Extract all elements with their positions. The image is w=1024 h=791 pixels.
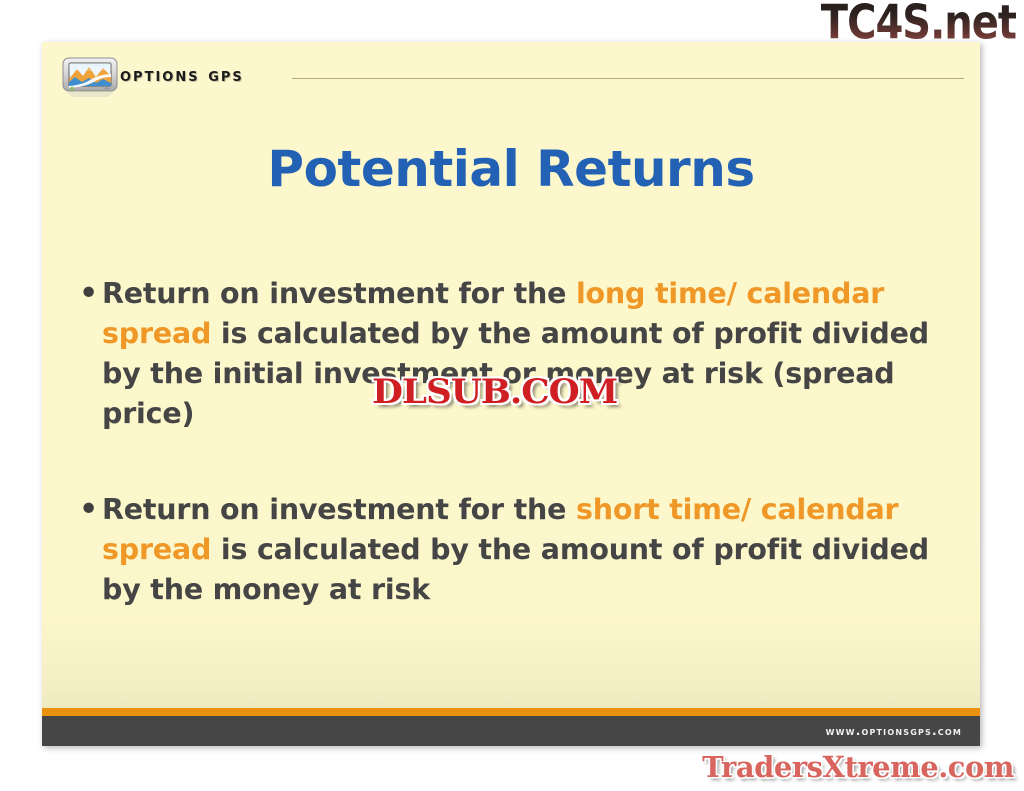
page-title: Potential Returns [42,140,980,198]
slide-footer: www.OptionsGPS.com [42,716,980,746]
footer-accent-stripe [42,708,980,716]
bullet-text: Return on investment for the short time/… [102,490,952,610]
watermark-dlsub: DLSUB.COM [372,372,617,412]
list-item: • Return on investment for the short tim… [72,490,952,610]
bullet-segment-plain: Return on investment for the [102,277,576,310]
gps-device-icon [62,56,118,98]
bullet-segment-plain: is calculated by the amount of profit di… [102,533,929,606]
bullet-list: • Return on investment for the long time… [72,274,952,666]
bullet-segment-plain: Return on investment for the [102,493,576,526]
bullet-marker: • [72,490,102,530]
header-divider [292,78,964,79]
slide-header: Options GPS [42,42,980,110]
brand-wordmark: Options GPS [120,64,244,86]
watermark-tc4s: TC4S.net [821,0,1016,50]
watermark-tradersxtreme: TradersXtreme.com [702,750,1014,784]
bullet-marker: • [72,274,102,314]
footer-website-url: www.OptionsGPS.com [826,724,962,738]
